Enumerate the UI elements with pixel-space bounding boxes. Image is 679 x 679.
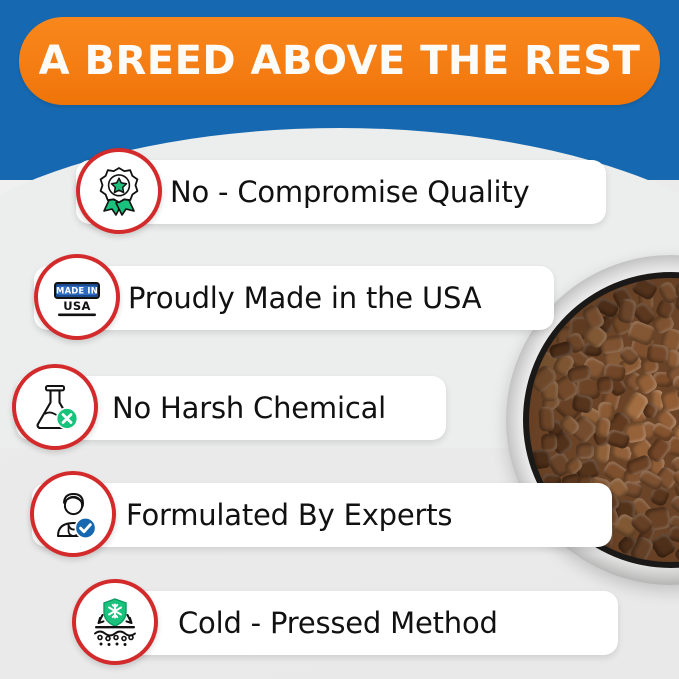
feature-label: No - Compromise Quality (170, 160, 530, 224)
feature-label: No Harsh Chemical (112, 376, 386, 440)
title-banner: A BREED ABOVE THE REST (19, 17, 660, 105)
banner-title: A BREED ABOVE THE REST (39, 41, 641, 81)
no-chemical-flask-icon (12, 364, 98, 450)
feature-row-cold-pressed[interactable]: Cold - Pressed Method (0, 591, 679, 655)
feature-row-experts[interactable]: Formulated By Experts (0, 483, 679, 547)
quality-ribbon-icon (76, 148, 162, 234)
feature-row-made-in-usa[interactable]: MADE IN USA Proudly Made in the USA (0, 266, 679, 330)
expert-vet-icon (30, 471, 116, 557)
feature-label: Proudly Made in the USA (128, 266, 481, 330)
svg-text:USA: USA (63, 299, 90, 313)
made-in-usa-icon: MADE IN USA (34, 254, 120, 340)
infographic-page: A BREED ABOVE THE REST No - Compromise Q… (0, 0, 679, 679)
cold-pressed-icon (72, 579, 158, 665)
svg-text:MADE IN: MADE IN (56, 286, 98, 296)
kibble-pellet (576, 443, 595, 459)
feature-row-quality[interactable]: No - Compromise Quality (0, 160, 679, 224)
feature-label: Formulated By Experts (126, 483, 452, 547)
feature-row-no-chemical[interactable]: No Harsh Chemical (0, 376, 679, 440)
feature-label: Cold - Pressed Method (178, 591, 498, 655)
kibble-pellet (646, 344, 669, 364)
